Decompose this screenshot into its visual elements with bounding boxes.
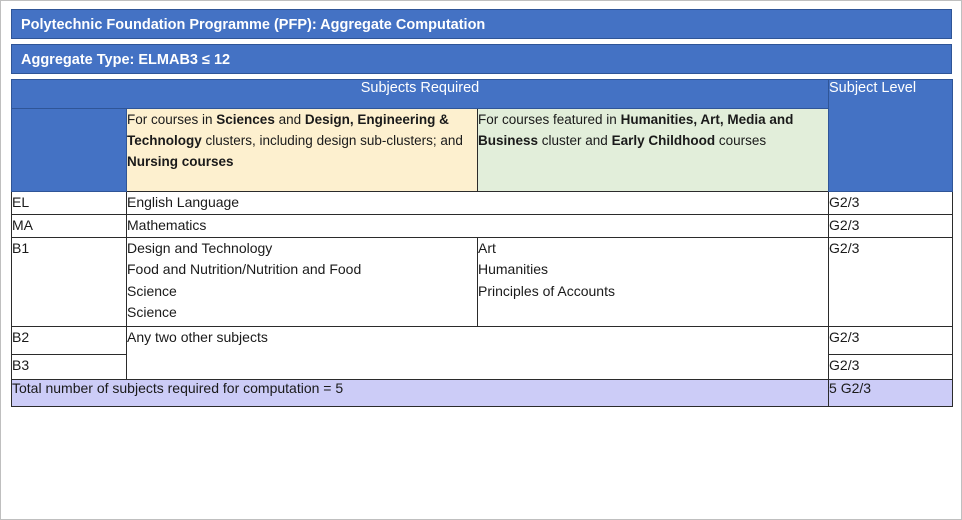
subject-line: Food and Nutrition/Nutrition and Food [127, 259, 477, 280]
row-level-b2: G2/3 [829, 327, 953, 355]
row-level-el: G2/3 [829, 192, 953, 215]
row-subjects-b2-b3: Any two other subjects [127, 327, 829, 380]
subject-line: English Language [127, 192, 828, 213]
subject-line: Mathematics [127, 215, 828, 236]
row-code-b3: B3 [12, 355, 127, 380]
subject-line: Any two other subjects [127, 327, 828, 348]
row-subjects-el: English Language [127, 192, 829, 215]
aggregate-table: Subjects Required Subject Level For cour… [11, 79, 953, 407]
table-row: EL English Language G2/3 [12, 192, 953, 215]
aggregate-computation-document: Polytechnic Foundation Programme (PFP): … [11, 9, 952, 407]
table-row: B2 Any two other subjects G2/3 [12, 327, 953, 355]
row-subjects-b1-right: Art Humanities Principles of Accounts [478, 238, 829, 327]
row-code-b1: B1 [12, 238, 127, 327]
row-subjects-ma: Mathematics [127, 215, 829, 238]
row-code-el: EL [12, 192, 127, 215]
note-sciences-det-nursing: For courses in Sciences and Design, Engi… [127, 109, 478, 192]
row-level-b1: G2/3 [829, 238, 953, 327]
subject-line: Science [127, 281, 477, 302]
subject-line: Art [478, 238, 828, 259]
row-subjects-b1-left: Design and Technology Food and Nutrition… [127, 238, 478, 327]
table-row: B1 Design and Technology Food and Nutrit… [12, 238, 953, 327]
page-frame: Polytechnic Foundation Programme (PFP): … [0, 0, 962, 520]
header-subjects-required: Subjects Required [12, 80, 829, 109]
note-right-text: For courses featured in Humanities, Art,… [478, 112, 793, 148]
total-subject-level: 5 G2/3 [829, 380, 953, 407]
subject-line: Science [127, 302, 477, 323]
table-header-row: Subjects Required Subject Level [12, 80, 953, 109]
notes-row-spacer [12, 109, 127, 192]
note-humanities-art-media-business: For courses featured in Humanities, Art,… [478, 109, 829, 192]
subject-line: Design and Technology [127, 238, 477, 259]
row-code-ma: MA [12, 215, 127, 238]
total-subjects-label: Total number of subjects required for co… [12, 380, 829, 407]
aggregate-type-bar: Aggregate Type: ELMAB3 ≤ 12 [11, 44, 952, 74]
subject-line: Principles of Accounts [478, 281, 828, 302]
header-subject-level: Subject Level [829, 80, 953, 192]
subject-line: Humanities [478, 259, 828, 280]
note-left-text: For courses in Sciences and Design, Engi… [127, 112, 463, 169]
document-title-bar: Polytechnic Foundation Programme (PFP): … [11, 9, 952, 39]
table-row: MA Mathematics G2/3 [12, 215, 953, 238]
row-code-b2: B2 [12, 327, 127, 355]
table-total-row: Total number of subjects required for co… [12, 380, 953, 407]
row-level-b3: G2/3 [829, 355, 953, 380]
row-level-ma: G2/3 [829, 215, 953, 238]
table-notes-row: For courses in Sciences and Design, Engi… [12, 109, 953, 192]
